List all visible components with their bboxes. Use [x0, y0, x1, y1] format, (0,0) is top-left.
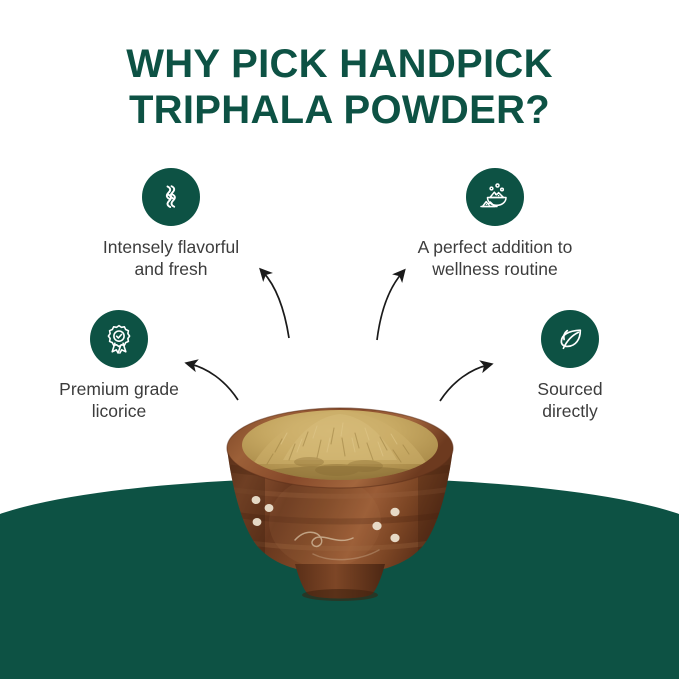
- arrow-to-wellness-routine: [377, 273, 402, 340]
- title-line-2: TRIPHALA POWDER?: [0, 88, 679, 134]
- feature-wellness-routine[interactable]: A perfect addition to wellness routine: [390, 168, 600, 281]
- feature-label: Sourced directly: [465, 379, 675, 423]
- feature-label: Premium grade licorice: [14, 379, 224, 423]
- quality-badge-icon: [90, 310, 148, 368]
- title-line-1: WHY PICK HANDPICK: [0, 42, 679, 88]
- feature-label: Intensely flavorful and fresh: [66, 237, 276, 281]
- aroma-waves-icon: [142, 168, 200, 226]
- feature-premium-grade[interactable]: Premium grade licorice: [14, 310, 224, 423]
- feature-intensely-flavorful[interactable]: Intensely flavorful and fresh: [66, 168, 276, 281]
- infographic-canvas: WHY PICK HANDPICK TRIPHALA POWDER?: [0, 0, 679, 679]
- leaf-icon: [541, 310, 599, 368]
- powder-bowl-icon: [466, 168, 524, 226]
- product-image-wooden-bowl: [213, 404, 467, 604]
- page-title: WHY PICK HANDPICK TRIPHALA POWDER?: [0, 42, 679, 133]
- feature-label: A perfect addition to wellness routine: [390, 237, 600, 281]
- arrow-to-intensely-flavorful: [263, 272, 289, 338]
- feature-sourced-directly[interactable]: Sourced directly: [465, 310, 675, 423]
